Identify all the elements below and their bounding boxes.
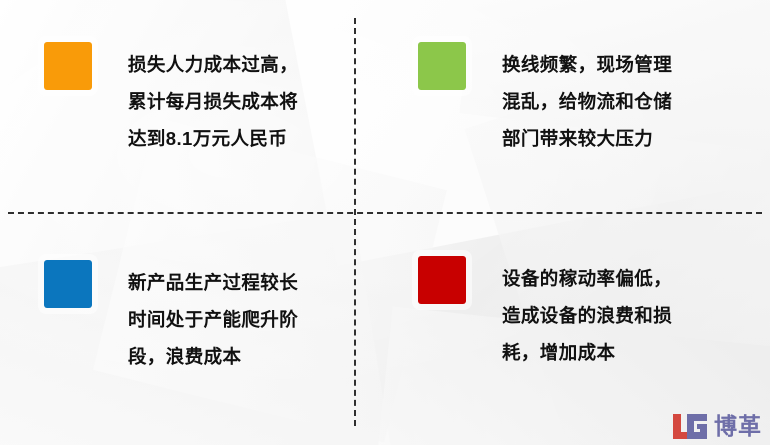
red-swatch	[418, 256, 466, 304]
quadrant-bottom-left-text: 新产品生产过程较长 时间处于产能爬升阶 段，浪费成本	[128, 264, 343, 375]
logo-red-foot	[673, 432, 688, 439]
blue-swatch	[44, 260, 92, 308]
boge-logo-icon	[673, 414, 707, 439]
quadrant-top-right-text: 换线频繁，现场管理 混乱，给物流和仓储 部门带来较大压力	[502, 46, 717, 157]
quadrant-top-left-text: 损失人力成本过高， 累计每月损失成本将 达到8.1万元人民币	[128, 46, 343, 157]
quadrant-bottom-right: 设备的稼动率偏低， 造成设备的浪费和损 耗，增加成本	[356, 214, 770, 445]
quadrant-top-left: 损失人力成本过高， 累计每月损失成本将 达到8.1万元人民币	[0, 0, 354, 212]
logo-purple-notch	[697, 424, 707, 429]
brand-logo: 博革	[673, 414, 762, 439]
slide-canvas: 损失人力成本过高， 累计每月损失成本将 达到8.1万元人民币 换线频繁，现场管理…	[0, 0, 770, 445]
quadrant-top-right: 换线频繁，现场管理 混乱，给物流和仓储 部门带来较大压力	[356, 0, 770, 212]
brand-name: 博革	[714, 415, 762, 438]
green-swatch	[418, 42, 466, 90]
quadrant-bottom-right-text: 设备的稼动率偏低， 造成设备的浪费和损 耗，增加成本	[502, 260, 717, 371]
quadrant-bottom-left: 新产品生产过程较长 时间处于产能爬升阶 段，浪费成本	[0, 214, 354, 445]
orange-swatch	[44, 42, 92, 90]
